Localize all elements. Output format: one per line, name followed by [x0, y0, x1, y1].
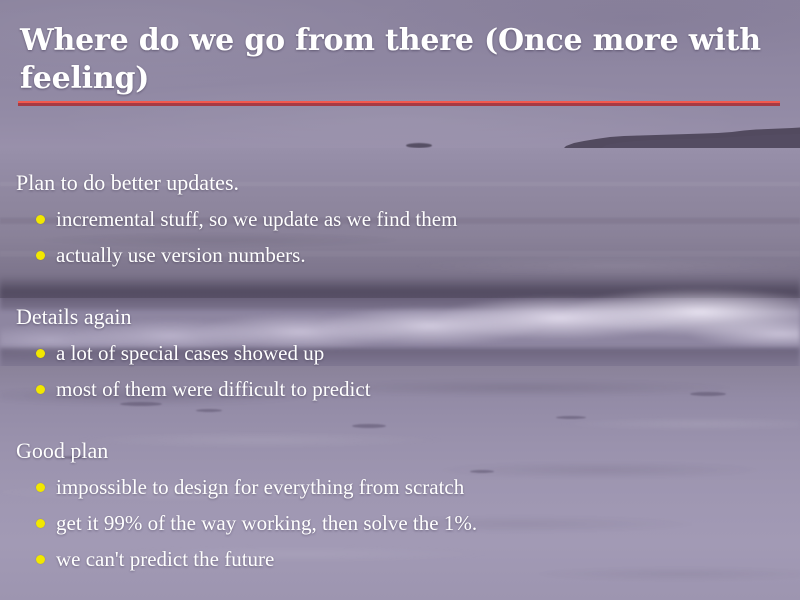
group-spacer: [16, 273, 786, 299]
bullet-item-label: we can't predict the future: [56, 547, 274, 571]
bullet-item-label: incremental stuff, so we update as we fi…: [56, 207, 457, 231]
bullet-item-label: actually use version numbers.: [56, 243, 306, 267]
bullet-point-icon: [36, 519, 45, 528]
content-group: Plan to do better updates. incremental s…: [16, 165, 786, 273]
bullet-item: a lot of special cases showed up: [16, 335, 786, 371]
bullet-item-label: a lot of special cases showed up: [56, 341, 324, 365]
bullet-item-label: most of them were difficult to predict: [56, 377, 371, 401]
group-heading: Good plan: [16, 433, 786, 469]
bullet-item: actually use version numbers.: [16, 237, 786, 273]
bullet-item: impossible to design for everything from…: [16, 469, 786, 505]
bullet-point-icon: [36, 385, 45, 394]
bullet-point-icon: [36, 483, 45, 492]
title-rule-shadow: [18, 103, 780, 106]
group-spacer: [16, 407, 786, 433]
bullet-item: we can't predict the future: [16, 541, 786, 577]
bullet-item: most of them were difficult to predict: [16, 371, 786, 407]
slide-body: Plan to do better updates. incremental s…: [16, 165, 786, 577]
bullet-point-icon: [36, 349, 45, 358]
presentation-slide: Where do we go from there (Once more wit…: [0, 0, 800, 600]
bullet-point-icon: [36, 215, 45, 224]
bullet-point-icon: [36, 555, 45, 564]
slide-title: Where do we go from there (Once more wit…: [20, 22, 780, 98]
content-group: Good plan impossible to design for every…: [16, 433, 786, 577]
title-underline-rule: [18, 101, 780, 106]
bullet-item: get it 99% of the way working, then solv…: [16, 505, 786, 541]
bullet-item-label: get it 99% of the way working, then solv…: [56, 511, 477, 535]
content-group: Details again a lot of special cases sho…: [16, 299, 786, 407]
bullet-point-icon: [36, 251, 45, 260]
bullet-item-label: impossible to design for everything from…: [56, 475, 464, 499]
bullet-item: incremental stuff, so we update as we fi…: [16, 201, 786, 237]
group-heading: Plan to do better updates.: [16, 165, 786, 201]
group-heading: Details again: [16, 299, 786, 335]
